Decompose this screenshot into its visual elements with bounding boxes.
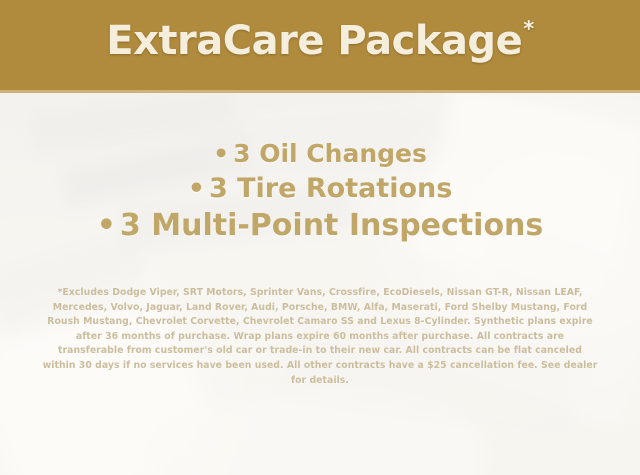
bullet-icon: • bbox=[97, 208, 116, 243]
page-title-text: ExtraCare Package bbox=[106, 18, 522, 64]
bullet-icon: • bbox=[188, 173, 205, 204]
header-band: ExtraCare Package* bbox=[0, 0, 640, 93]
list-item: •3 Tire Rotations bbox=[0, 171, 640, 206]
benefits-list: •3 Oil Changes •3 Tire Rotations •3 Mult… bbox=[0, 138, 640, 245]
bullet-icon: • bbox=[213, 139, 229, 168]
list-item-label: 3 Tire Rotations bbox=[209, 173, 452, 204]
list-item: •3 Oil Changes bbox=[0, 138, 640, 171]
page-title: ExtraCare Package* bbox=[0, 17, 640, 64]
list-item-label: 3 Oil Changes bbox=[233, 139, 427, 168]
disclaimer-text: *Excludes Dodge Viper, SRT Motors, Sprin… bbox=[42, 286, 598, 388]
footnote-marker: * bbox=[523, 17, 533, 41]
extracare-package-ad: ExtraCare Package* •3 Oil Changes •3 Tir… bbox=[0, 0, 640, 475]
list-item: •3 Multi-Point Inspections bbox=[0, 206, 640, 245]
list-item-label: 3 Multi-Point Inspections bbox=[120, 208, 543, 243]
